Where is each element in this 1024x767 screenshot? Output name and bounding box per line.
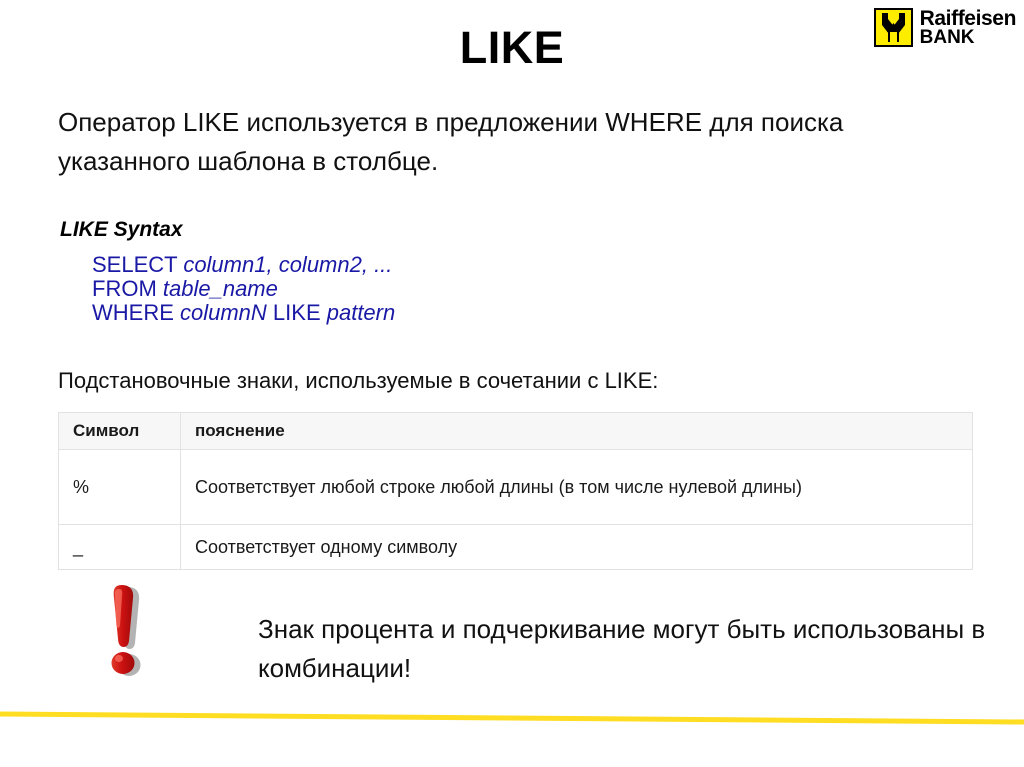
table-body: % Соответствует любой строке любой длины… — [59, 450, 973, 570]
syntax-placeholder: column1, column2, ... — [183, 252, 392, 277]
table-row: _ Соответствует одному символу — [59, 525, 973, 570]
footer-divider — [0, 700, 1024, 730]
syntax-code-block: SELECT column1, column2, ... FROM table_… — [92, 253, 395, 325]
column-header-description: пояснение — [181, 413, 973, 450]
intro-paragraph: Оператор LIKE используется в предложении… — [58, 103, 958, 181]
column-header-symbol: Символ — [59, 413, 181, 450]
syntax-keyword-like: LIKE — [267, 300, 327, 325]
syntax-line-select: SELECT column1, column2, ... — [92, 253, 395, 277]
wildcard-table: Символ пояснение % Соответствует любой с… — [58, 412, 973, 570]
table-row: % Соответствует любой строке любой длины… — [59, 450, 973, 525]
exclamation-mark-icon — [95, 583, 165, 683]
syntax-heading: LIKE Syntax — [60, 218, 183, 242]
syntax-line-where: WHERE columnN LIKE pattern — [92, 301, 395, 325]
table-header-row: Символ пояснение — [59, 413, 973, 450]
cell-description: Соответствует любой строке любой длины (… — [181, 450, 973, 525]
page-title: LIKE — [0, 22, 1024, 74]
syntax-line-from: FROM table_name — [92, 277, 395, 301]
table-head: Символ пояснение — [59, 413, 973, 450]
cell-symbol: _ — [59, 525, 181, 570]
syntax-placeholder-pattern: pattern — [327, 300, 396, 325]
syntax-keyword: FROM — [92, 276, 163, 301]
syntax-placeholder: table_name — [163, 276, 278, 301]
warning-text: Знак процента и подчеркивание могут быть… — [258, 610, 988, 688]
syntax-placeholder: columnN — [180, 300, 267, 325]
wildcards-intro-text: Подстановочные знаки, используемые в соч… — [58, 368, 658, 394]
syntax-keyword: SELECT — [92, 252, 183, 277]
syntax-keyword: WHERE — [92, 300, 180, 325]
cell-description: Соответствует одному символу — [181, 525, 973, 570]
cell-symbol: % — [59, 450, 181, 525]
